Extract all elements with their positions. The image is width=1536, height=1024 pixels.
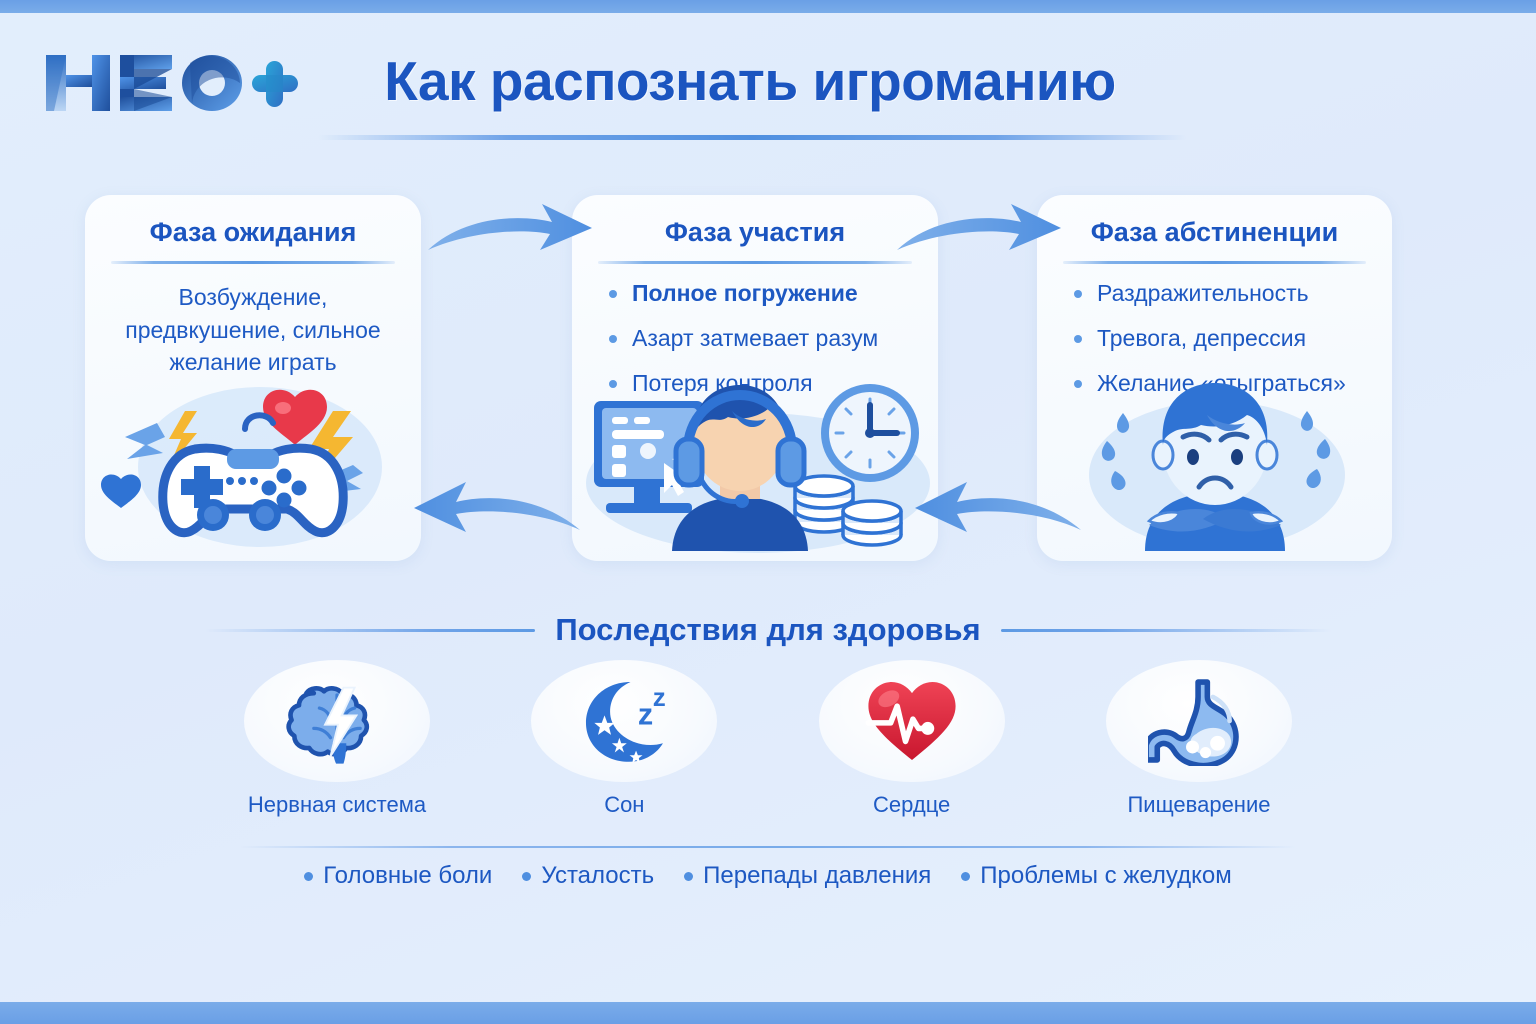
symptom-label: Проблемы с желудком	[980, 862, 1231, 890]
arrow-phase2-to-phase1	[404, 474, 584, 540]
stomach-icon	[1148, 676, 1250, 766]
bullet-dot-icon	[609, 335, 617, 343]
symptom-item: Головные боли	[304, 862, 492, 890]
symptom-label: Головные боли	[323, 862, 492, 890]
bottom-accent-band	[0, 1002, 1536, 1024]
header: Как распознать игроманию	[0, 13, 1536, 138]
neo-plus-logo	[40, 47, 300, 117]
symptom-label: Усталость	[541, 862, 654, 890]
phase-card-title: Фаза ожидания	[85, 217, 421, 248]
arrow-phase3-to-phase2	[905, 474, 1085, 540]
brain-lightning-icon	[286, 676, 388, 766]
arrow-phase2-to-phase3	[893, 198, 1065, 260]
bullet-dot-icon	[961, 872, 970, 881]
title-underline	[318, 135, 1186, 140]
gamer-monitor-clock-coins-illustration	[572, 375, 938, 555]
health-item-label: Пищеварение	[1094, 792, 1304, 818]
moon-stars-zzz-icon: z z	[573, 676, 675, 766]
health-item-label: Нервная система	[232, 792, 442, 818]
health-icons-row: Нервная система z z Сон	[232, 660, 1304, 818]
page-title: Как распознать игроманию	[340, 49, 1160, 113]
bullet-dot-icon	[1074, 335, 1082, 343]
consequences-heading: Последствия для здоровья	[555, 612, 980, 648]
svg-text:z: z	[638, 698, 653, 732]
phase-card-anticipation[interactable]: Фаза ожидания Возбуждение, предвкушение,…	[85, 195, 421, 561]
heart-pulse-icon	[861, 676, 963, 766]
list-item: Полное погружение	[606, 279, 920, 308]
bullet-text: Азарт затмевает разум	[632, 325, 878, 351]
gamepad-hearts-illustration	[85, 375, 421, 555]
phase-card-withdrawal[interactable]: Фаза абстиненции Раздражительность Трево…	[1037, 195, 1392, 561]
sad-person-illustration	[1037, 375, 1392, 555]
bullet-dot-icon	[1074, 290, 1082, 298]
phase-card-divider	[1063, 261, 1366, 264]
list-item: Раздражительность	[1071, 279, 1374, 308]
symptoms-row: Головные боли Усталость Перепады давлени…	[0, 862, 1536, 890]
phase-card-description: Возбуждение, предвкушение, сильное желан…	[105, 281, 401, 379]
icon-bubble: z z	[531, 660, 717, 782]
health-item-heart[interactable]: Сердце	[807, 660, 1017, 818]
bullet-dot-icon	[609, 290, 617, 298]
symptoms-divider	[240, 846, 1296, 848]
phase-card-title: Фаза участия	[572, 217, 938, 248]
heading-rule-right	[1001, 629, 1331, 632]
svg-text:z: z	[653, 682, 666, 712]
symptom-label: Перепады давления	[703, 862, 931, 890]
phase-card-participation[interactable]: Фаза участия Полное погружение Азарт зат…	[572, 195, 938, 561]
health-item-nervous-system[interactable]: Нервная система	[232, 660, 442, 818]
health-item-label: Сон	[519, 792, 729, 818]
bullet-text: Тревога, депрессия	[1097, 325, 1306, 351]
top-accent-band	[0, 0, 1536, 13]
health-item-digestion[interactable]: Пищеварение	[1094, 660, 1304, 818]
symptom-item: Проблемы с желудком	[961, 862, 1231, 890]
icon-bubble	[1106, 660, 1292, 782]
list-item: Азарт затмевает разум	[606, 324, 920, 353]
symptom-item: Перепады давления	[684, 862, 931, 890]
consequences-heading-row: Последствия для здоровья	[0, 608, 1536, 652]
icon-bubble	[244, 660, 430, 782]
bullet-dot-icon	[304, 872, 313, 881]
health-item-label: Сердце	[807, 792, 1017, 818]
phase-card-title: Фаза абстиненции	[1037, 217, 1392, 248]
phase-card-divider	[598, 261, 912, 264]
bullet-text: Полное погружение	[632, 280, 858, 306]
health-item-sleep[interactable]: z z Сон	[519, 660, 729, 818]
phase-card-divider	[111, 261, 395, 264]
heading-rule-left	[205, 629, 535, 632]
list-item: Тревога, депрессия	[1071, 324, 1374, 353]
bullet-text: Раздражительность	[1097, 280, 1309, 306]
symptom-item: Усталость	[522, 862, 654, 890]
bullet-dot-icon	[522, 872, 531, 881]
bullet-dot-icon	[684, 872, 693, 881]
icon-bubble	[819, 660, 1005, 782]
infographic-page: Как распознать игроманию Фаза ожидания В…	[0, 0, 1536, 1024]
arrow-phase1-to-phase2	[424, 198, 596, 260]
